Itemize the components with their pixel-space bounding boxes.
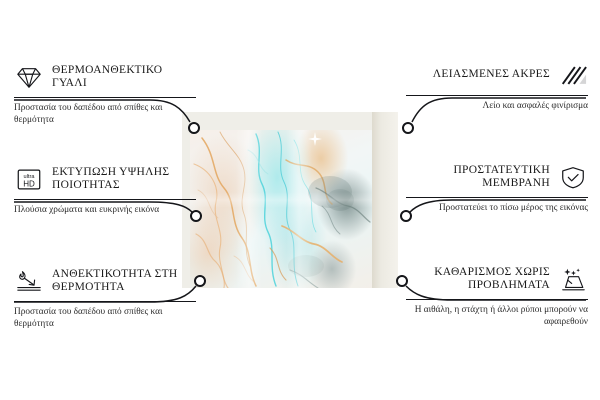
diamond-icon [14, 63, 44, 91]
feature-description: Προστατεύει το πίσω μέρος της εικόνας [406, 203, 588, 215]
feature-description: Προστασία του δαπέδου από σπίθες και θερ… [14, 307, 196, 330]
feature-divider [406, 299, 588, 300]
sparkle-clean-icon [558, 265, 588, 293]
feature-easy-cleaning: ΚΑΘΑΡΙΣΜΟΣ ΧΩΡΙΣ ΠΡΟΒΛΗΜΑΤΑ Η αιθάλη, η … [406, 264, 588, 328]
feature-header: ΚΑΘΑΡΙΣΜΟΣ ΧΩΡΙΣ ΠΡΟΒΛΗΜΑΤΑ [406, 264, 588, 294]
feature-header: ΛΕΙΑΣΜΕΝΕΣ ΑΚΡΕΣ [406, 60, 588, 90]
feature-heat-resistance: ΑΝΘΕΚΤΙΚΟΤΗΤΑ ΣΤΗ ΘΕΡΜΟΤΗΤΑ Προστασία το… [14, 266, 196, 330]
ultra-hd-icon: ultra HD [14, 165, 44, 193]
feature-heat-resistant-glass: ΘΕΡΜΟΑΝΘΕΚΤΙΚΟ ΓΥΑΛΙ Προστασία του δαπέδ… [14, 62, 196, 126]
product-panel-edge [372, 112, 398, 288]
feature-divider [406, 197, 588, 198]
feature-description: Η αιθάλη, η στάχτη ή άλλοι ρύποι μπορούν… [406, 305, 588, 328]
feature-header: ultra HD ΕΚΤΥΠΩΣΗ ΥΨΗΛΗΣ ΠΟΙΟΤΗΤΑΣ [14, 164, 196, 194]
product-image [182, 112, 398, 288]
feature-title: ΚΑΘΑΡΙΣΜΟΣ ΧΩΡΙΣ ΠΡΟΒΛΗΜΑΤΑ [406, 266, 550, 293]
feature-description: Πλούσια χρώματα και ευκρινής εικόνα [14, 205, 196, 217]
feature-header: ΘΕΡΜΟΑΝΘΕΚΤΙΚΟ ΓΥΑΛΙ [14, 62, 196, 92]
svg-text:HD: HD [23, 179, 35, 188]
feature-high-quality-print: ultra HD ΕΚΤΥΠΩΣΗ ΥΨΗΛΗΣ ΠΟΙΟΤΗΤΑΣ Πλούσ… [14, 164, 196, 217]
feature-divider [406, 95, 588, 96]
feature-header: ΑΝΘΕΚΤΙΚΟΤΗΤΑ ΣΤΗ ΘΕΡΜΟΤΗΤΑ [14, 266, 196, 296]
feature-header: ΠΡΟΣΤΑΤΕΥΤΙΚΗ ΜΕΜΒΡΑΝΗ [406, 162, 588, 192]
feature-divider [14, 97, 196, 98]
polished-edges-icon [558, 61, 588, 89]
product-panel-face [182, 112, 380, 288]
shield-check-icon [558, 163, 588, 191]
feature-divider [14, 301, 196, 302]
feature-title: ΘΕΡΜΟΑΝΘΕΚΤΙΚΟ ΓΥΑΛΙ [52, 64, 196, 91]
feature-description: Λείο και ασφαλές φινίρισμα [406, 101, 588, 113]
feature-description: Προστασία του δαπέδου από σπίθες και θερ… [14, 103, 196, 126]
feature-title: ΑΝΘΕΚΤΙΚΟΤΗΤΑ ΣΤΗ ΘΕΡΜΟΤΗΤΑ [52, 268, 196, 295]
heat-resistance-icon [14, 267, 44, 295]
feature-protective-film: ΠΡΟΣΤΑΤΕΥΤΙΚΗ ΜΕΜΒΡΑΝΗ Προστατεύει το πί… [406, 162, 588, 215]
connector-dot-right-1 [403, 123, 413, 133]
glass-artwork [190, 130, 372, 288]
infographic-canvas: ΘΕΡΜΟΑΝΘΕΚΤΙΚΟ ΓΥΑΛΙ Προστασία του δαπέδ… [0, 0, 600, 400]
feature-divider [14, 199, 196, 200]
feature-title: ΛΕΙΑΣΜΕΝΕΣ ΑΚΡΕΣ [433, 68, 550, 82]
feature-title: ΕΚΤΥΠΩΣΗ ΥΨΗΛΗΣ ΠΟΙΟΤΗΤΑΣ [52, 166, 196, 193]
feature-polished-edges: ΛΕΙΑΣΜΕΝΕΣ ΑΚΡΕΣ Λείο και ασφαλές φινίρι… [406, 60, 588, 113]
marble-veins [190, 130, 372, 288]
feature-title: ΠΡΟΣΤΑΤΕΥΤΙΚΗ ΜΕΜΒΡΑΝΗ [406, 164, 550, 191]
